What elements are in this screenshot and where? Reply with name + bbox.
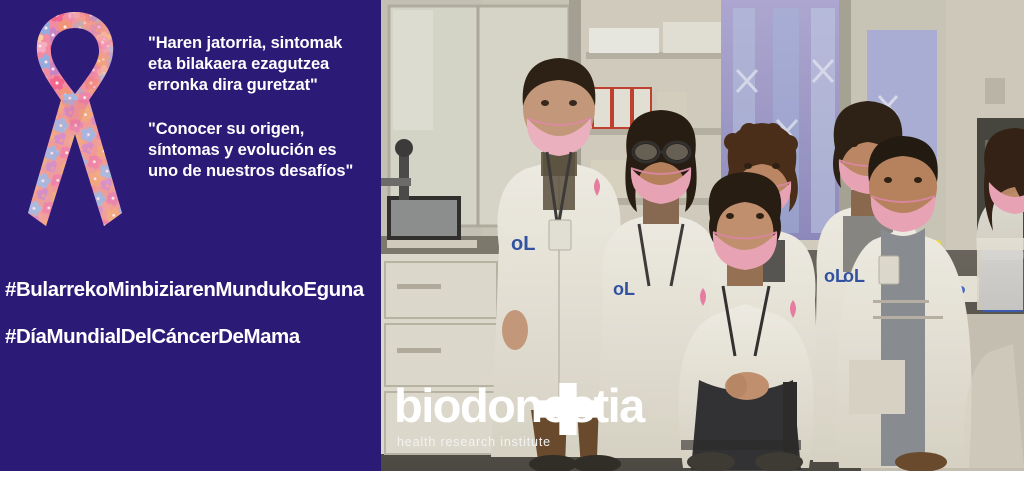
quote-spanish: "Conocer su origen, síntomas y evolución… — [148, 119, 353, 182]
quote-basque: "Haren jatorria, sintomak eta bilakaera … — [148, 33, 342, 96]
hashtag-spanish: #DíaMundialDelCáncerDeMama — [5, 325, 300, 349]
bottom-white-strip — [0, 471, 1024, 491]
poster: "Haren jatorria, sintomak eta bilakaera … — [0, 0, 1024, 471]
hashtag-basque: #BularrekoMinbiziarenMundukoEguna — [5, 278, 364, 302]
left-purple-panel: "Haren jatorria, sintomak eta bilakaera … — [0, 0, 381, 471]
floral-pink-awareness-ribbon-icon — [16, 8, 134, 234]
lab-team-photo: oL — [381, 0, 1024, 471]
